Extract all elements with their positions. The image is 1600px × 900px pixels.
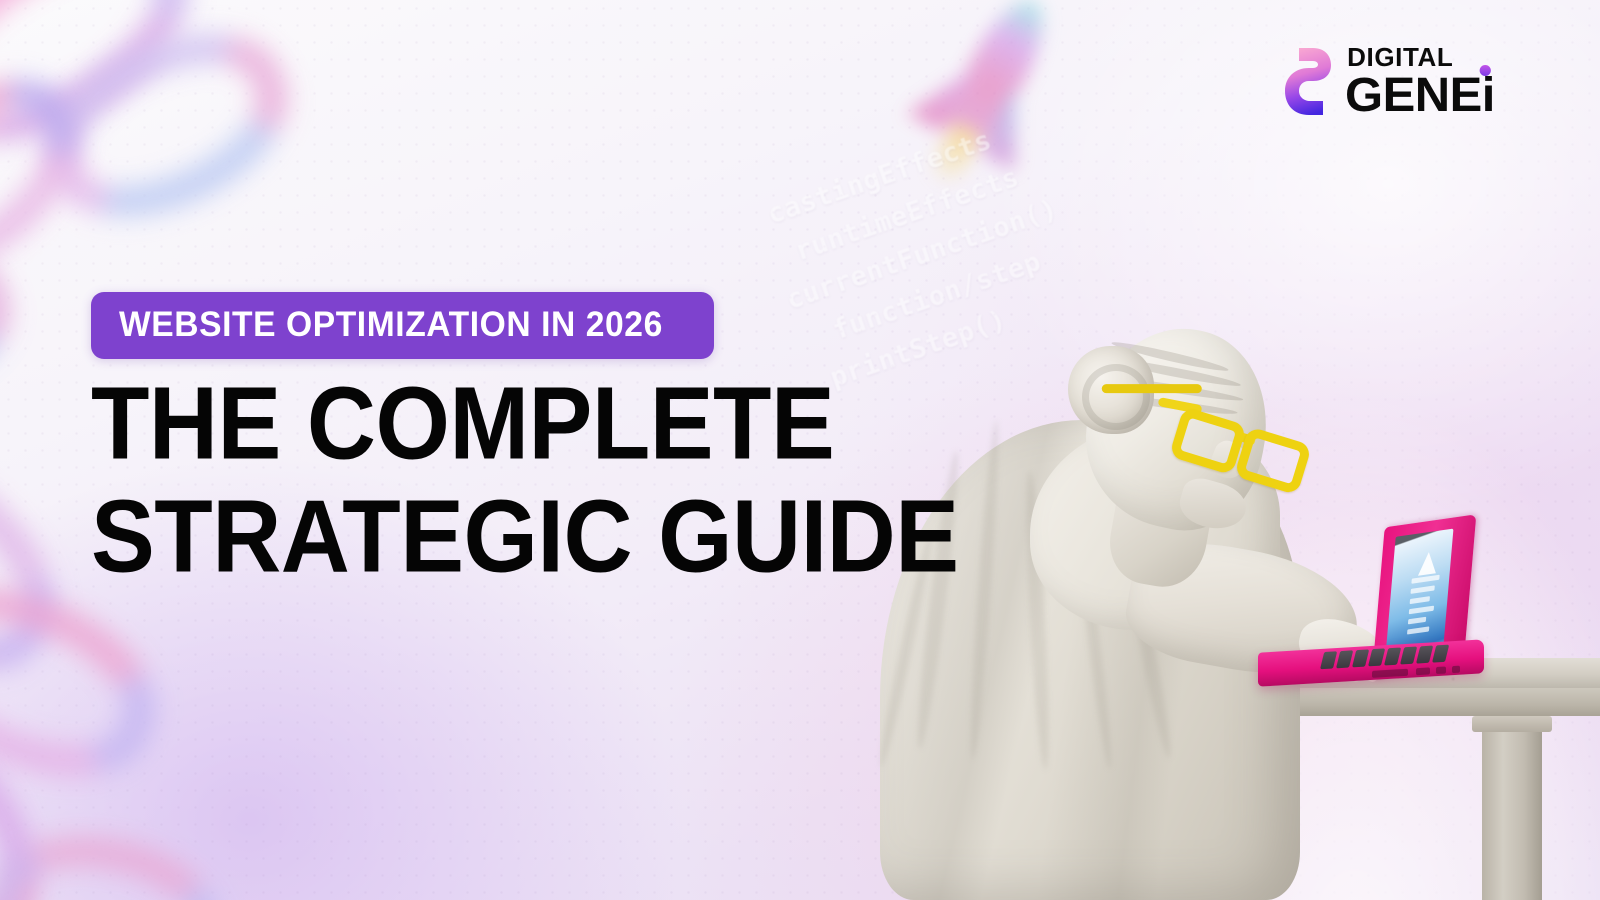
brand-logo[interactable]: DIGITAL GENEi xyxy=(1279,44,1492,120)
glasses-temple xyxy=(1102,384,1202,393)
logo-genei-label: GENEi xyxy=(1345,69,1495,122)
statue-laptop-illustration xyxy=(860,300,1600,900)
page-title: THE COMPLETE STRATEGIC GUIDE xyxy=(91,377,925,585)
badge-label: WEBSITE OPTIMIZATION IN 2026 xyxy=(119,307,663,342)
code-watermark-line: currentFunction() xyxy=(781,96,1334,323)
logo-text-digital: DIGITAL xyxy=(1347,44,1492,70)
headline-line-1: THE COMPLETE xyxy=(91,371,959,477)
code-watermark-line: runtimeEffects xyxy=(789,54,1319,273)
rocket-fin-right xyxy=(980,85,1051,171)
rocket-body xyxy=(939,0,1059,148)
glasses-lens-right xyxy=(1234,426,1312,495)
logo-dot-icon xyxy=(1480,65,1491,76)
upward-arrow-chart-icon xyxy=(1418,551,1438,576)
chain-link-icon xyxy=(0,44,111,307)
screen-content-lines xyxy=(1406,575,1440,652)
logo-text-genei: GENEi xyxy=(1345,72,1495,120)
chain-link-icon xyxy=(0,818,233,900)
hero-text-block: WEBSITE OPTIMIZATION IN 2026 THE COMPLET… xyxy=(91,292,925,585)
stone-table-leg xyxy=(1482,716,1542,900)
chain-link-icon xyxy=(20,0,314,250)
chain-link-icon xyxy=(0,229,26,416)
infinity-g-mark-icon xyxy=(1279,45,1333,119)
logo-wordmark: DIGITAL GENEi xyxy=(1345,44,1492,120)
chain-link-icon xyxy=(0,682,75,900)
rocket-flame xyxy=(926,121,982,190)
rocket-icon xyxy=(860,0,1109,234)
headline-line-2: STRATEGIC GUIDE xyxy=(91,484,959,590)
chain-link-icon xyxy=(0,0,223,184)
chain-link-icon xyxy=(0,401,94,714)
status-badge: WEBSITE OPTIMIZATION IN 2026 xyxy=(91,292,714,359)
hero-banner: castingEffects runtimeEffects currentFun… xyxy=(0,0,1600,900)
glasses-lens-left xyxy=(1169,406,1247,475)
code-watermark-line: castingEffects xyxy=(762,13,1306,237)
pink-laptop xyxy=(1260,522,1530,702)
rocket-fin-left xyxy=(907,47,978,133)
